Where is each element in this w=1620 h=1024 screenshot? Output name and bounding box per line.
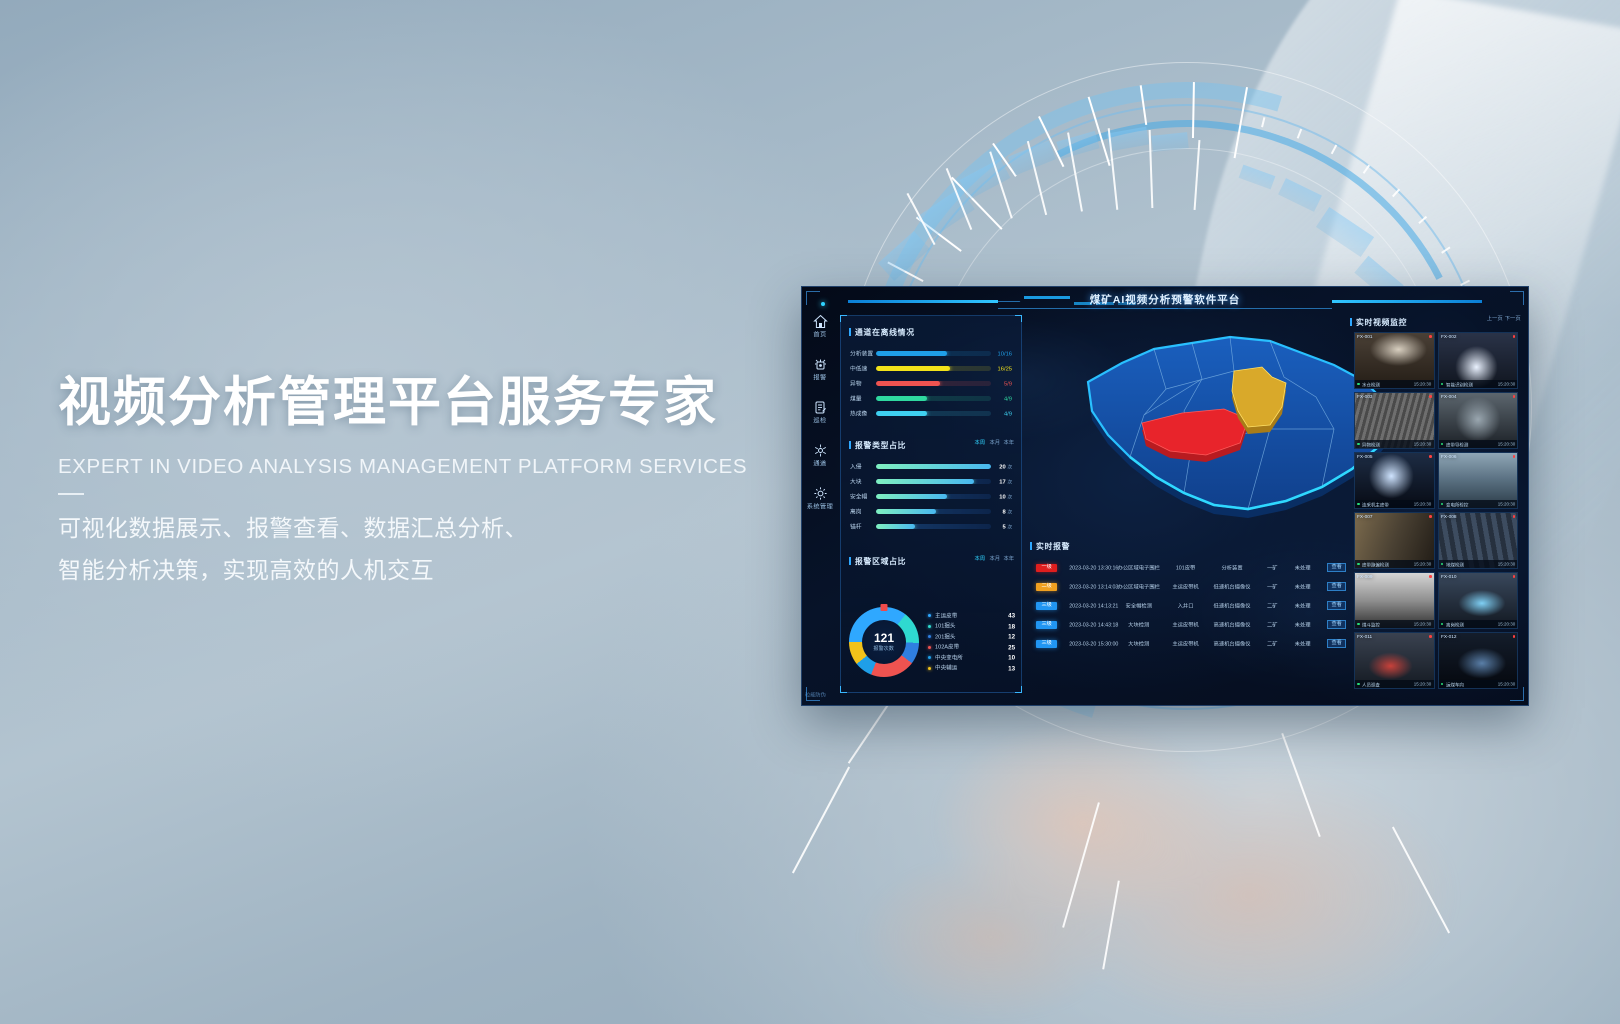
table-row: 二级2023-03-20 13:14:03办公区域电子围栏主运皮带机低速机台摄像… [1030, 577, 1346, 596]
online-status-icon [1441, 443, 1444, 446]
alarm-view-button[interactable]: 查看 [1327, 601, 1346, 610]
sidebar-item-4[interactable]: 通道 [802, 438, 838, 481]
video-caption-bar: 智能识别检测15:20:30 [1439, 380, 1518, 388]
online-status-icon [1441, 383, 1444, 386]
legend-item: 102A皮带25 [928, 642, 1015, 653]
legend-label: 主运皮带 [935, 612, 1037, 620]
channel-progress-track [876, 351, 991, 355]
alarm-type-progress-fill [876, 464, 991, 468]
legend-value: 18 [1008, 623, 1015, 630]
alarm-level-badge: 三级 [1036, 640, 1057, 648]
alarm-type-progress-track [876, 509, 991, 513]
video-cell[interactable]: FX-004皮带导检测15:20:30 [1438, 392, 1519, 449]
online-status-icon [1357, 683, 1360, 686]
alarm-type-value: 5 次 [983, 523, 1012, 530]
alarm-type-progress-track [876, 464, 991, 468]
sidebar-item-label: 报警 [801, 373, 844, 381]
recording-indicator-icon [1429, 575, 1432, 578]
video-cell[interactable]: FX-011人员巡查15:20:30 [1354, 632, 1435, 689]
video-cell[interactable]: FX-009煤斗监控15:20:30 [1354, 572, 1435, 629]
alarm-type-row: 大块17 次 [850, 474, 1012, 489]
alarm-type-progress-fill [876, 524, 915, 528]
alarm-type-tabs[interactable]: 本周本月本年 [976, 441, 1013, 446]
legend-color-dot [928, 625, 931, 628]
video-id-label: FX-007 [1357, 514, 1373, 519]
channel-progress-track [876, 381, 991, 385]
table-row: 三级2023-03-20 15:30:00大块检测主运皮带机高速机台摄像仪二矿未… [1030, 634, 1346, 653]
alarm-type-rows: 入侵20 次大块17 次安全帽10 次离岗8 次锚杆5 次 [850, 459, 1012, 534]
legend-label: 中央变电所 [935, 654, 1037, 662]
legend-color-dot [928, 656, 931, 659]
sidebar-nav: 首页报警巡检通道系统管理 粒能防伪 [802, 309, 838, 705]
realtime-alarm-section: 实时报警 一级2023-03-20 13:30:16办公区域电子围栏101皮带分… [1030, 539, 1346, 691]
video-cell[interactable]: FX-001水仓检测15:20:30 [1354, 332, 1435, 389]
video-cell[interactable]: FX-007皮带跑偏检测15:20:30 [1354, 512, 1435, 569]
legend-item: 主运皮带43 [928, 611, 1015, 622]
gear-icon [813, 486, 828, 501]
alarm-area-panel-title: 报警区域占比 [855, 556, 906, 567]
recording-indicator-icon [1429, 395, 1432, 398]
video-caption-bar: 煤斗监控15:20:30 [1355, 620, 1434, 628]
alarm-type-row: 锚杆5 次 [850, 519, 1012, 534]
panel-corner-br [1015, 686, 1022, 693]
video-timestamp: 15:20:30 [1414, 681, 1431, 686]
channel-progress-track [876, 366, 991, 370]
channel-row: 分析装置10/16 [850, 346, 1012, 361]
legend-label: 101掘头 [935, 622, 1037, 630]
alarm-icon [813, 357, 828, 372]
alarm-type-value: 8 次 [983, 508, 1012, 515]
alarm-type-row: 安全帽10 次 [850, 489, 1012, 504]
legend-item: 101掘头18 [928, 621, 1015, 632]
video-caption-bar: 变电所检控15:20:30 [1439, 500, 1518, 508]
alarm-type-row: 离岗8 次 [850, 504, 1012, 519]
video-caption-bar: 地煤检测15:20:30 [1439, 560, 1518, 568]
alarm-type-progress-track [876, 479, 991, 483]
online-status-icon [1357, 443, 1360, 446]
video-caption-bar: 皮带跑偏检测15:20:30 [1355, 560, 1434, 568]
alarm-status: 未处理 [1283, 620, 1323, 628]
panel-corner-bl [840, 686, 847, 693]
video-grid: FX-001水仓检测15:20:30FX-002智能识别检测15:20:30FX… [1354, 332, 1518, 689]
inspection-icon [813, 400, 828, 415]
table-row: 三级2023-03-20 14:43:18大块检测主运皮带机高速机台摄像仪二矿未… [1030, 615, 1346, 634]
video-caption-bar: 运煤车向15:20:30 [1439, 680, 1518, 688]
alarm-view-button[interactable]: 查看 [1327, 620, 1346, 629]
alarm-view-button[interactable]: 查看 [1327, 639, 1346, 648]
alarm-type-progress-fill [876, 494, 947, 498]
recording-indicator-icon [1513, 635, 1516, 638]
legend-item: 中央辅运13 [928, 663, 1015, 674]
video-id-label: FX-004 [1441, 394, 1457, 399]
sidebar-item-3[interactable]: 巡检 [802, 395, 838, 438]
video-timestamp: 15:20:30 [1414, 441, 1431, 446]
channel-value: 10/16 [983, 350, 1012, 357]
tab-本月[interactable]: 本月 [989, 440, 1000, 447]
video-id-label: FX-008 [1441, 514, 1457, 519]
legend-color-dot [928, 667, 931, 670]
alarm-view-button[interactable]: 查看 [1327, 563, 1346, 572]
alarm-table: 一级2023-03-20 13:30:16办公区域电子围栏101皮带分析装置一矿… [1030, 558, 1346, 653]
channel-value: 16/25 [983, 365, 1012, 372]
sidebar-item-label: 系统管理 [801, 502, 844, 510]
alarm-area-chart-wrap: 121 报警次数 主运皮带43101掘头18201掘头12102A皮带25中央变… [849, 602, 1015, 682]
channel-panel-header: 通道在离线情况 [849, 325, 1013, 339]
table-row: 一级2023-03-20 13:30:16办公区域电子围栏101皮带分析装置一矿… [1030, 558, 1346, 577]
video-id-label: FX-002 [1441, 334, 1457, 339]
video-cell[interactable]: FX-002智能识别检测15:20:30 [1438, 332, 1519, 389]
channel-value: 4/9 [983, 395, 1012, 402]
donut-total-caption: 报警次数 [874, 646, 895, 653]
page-title: 视频分析管理平台服务专家 [58, 372, 818, 435]
video-cell[interactable]: FX-006变电所检控15:20:30 [1438, 452, 1519, 509]
video-caption-bar: 水仓检测15:20:30 [1355, 380, 1434, 388]
legend-value: 10 [1008, 654, 1015, 661]
recording-indicator-icon [1513, 455, 1516, 458]
video-caption-bar: 人员巡查15:20:30 [1355, 680, 1434, 688]
video-timestamp: 15:20:30 [1498, 621, 1515, 626]
hero-description-line-2: 智能分析决策，实现高效的人机交互 [58, 549, 818, 592]
video-timestamp: 15:20:30 [1414, 621, 1431, 626]
legend-label: 201掘头 [935, 633, 1037, 641]
video-cell[interactable]: FX-010离岗检测15:20:30 [1438, 572, 1519, 629]
alarm-status: 未处理 [1283, 582, 1323, 590]
alarm-status: 未处理 [1283, 563, 1323, 571]
recording-indicator-icon [1429, 635, 1432, 638]
video-next-page-button[interactable]: 下一页 [1504, 316, 1520, 323]
panel-corner-tr [1015, 315, 1022, 322]
video-caption-bar: 离岗检测15:20:30 [1439, 620, 1518, 628]
online-status-icon [1357, 383, 1360, 386]
video-timestamp: 15:20:30 [1414, 501, 1431, 506]
home-icon [813, 314, 828, 329]
legend-item: 中央变电所10 [928, 653, 1015, 664]
video-caption-bar: 连采机主皮带15:20:30 [1355, 500, 1434, 508]
sidebar-item-5[interactable]: 系统管理 [802, 481, 838, 524]
channel-progress-fill [876, 396, 927, 400]
online-status-icon [1441, 503, 1444, 506]
alarm-type-panel-header: 报警类型占比 本周本月本年 [849, 438, 1013, 452]
channel-row: 中低速16/25 [850, 361, 1012, 376]
video-timestamp: 15:20:30 [1414, 381, 1431, 386]
recording-indicator-icon [1513, 515, 1516, 518]
alarm-area-donut-chart: 121 报警次数 [849, 607, 919, 677]
online-status-icon [1357, 563, 1360, 566]
legend-value: 43 [1008, 612, 1015, 619]
channel-progress-track [876, 411, 991, 415]
channel-progress-fill [876, 411, 927, 415]
video-cell[interactable]: FX-005连采机主皮带15:20:30 [1354, 452, 1435, 509]
legend-color-dot [928, 614, 931, 617]
table-row: 三级2023-03-20 14:13:21安全帽检测入井口低速机台摄像仪二矿未处… [1030, 596, 1346, 615]
hero-subtitle: EXPERT IN VIDEO ANALYSIS MANAGEMENT PLAT… [58, 455, 818, 479]
alarm-area-panel-header: 报警区域占比 本周本月本年 [849, 554, 1013, 568]
video-id-label: FX-010 [1441, 574, 1457, 579]
channel-value: 5/9 [983, 380, 1012, 387]
alarm-type-progress-fill [876, 479, 974, 483]
channel-progress-fill [876, 366, 950, 370]
online-status-icon [1357, 503, 1360, 506]
recording-indicator-icon [1513, 395, 1516, 398]
video-id-label: FX-012 [1441, 634, 1457, 639]
video-prev-page-button[interactable]: 上一页 [1487, 316, 1503, 323]
screen-corner-tl [806, 291, 820, 305]
alarm-list-title: 实时报警 [1036, 541, 1070, 552]
channel-row: 异物5/9 [850, 376, 1012, 391]
alarm-area-tabs[interactable]: 本周本月本年 [976, 557, 1013, 562]
online-status-icon [1441, 563, 1444, 566]
legend-color-dot [928, 635, 931, 638]
tab-本年[interactable]: 本年 [1004, 440, 1015, 447]
dashboard-title: 煤矿AI视频分析预警软件平台 [802, 292, 1528, 307]
alarm-status: 未处理 [1283, 639, 1323, 647]
channel-progress-fill [876, 351, 947, 355]
video-caption-bar: 异物检测15:20:30 [1355, 440, 1434, 448]
tab-本周[interactable]: 本周 [975, 440, 986, 447]
video-id-label: FX-009 [1357, 574, 1373, 579]
legend-item: 201掘头12 [928, 632, 1015, 643]
recording-indicator-icon [1429, 335, 1432, 338]
video-id-label: FX-003 [1357, 394, 1373, 399]
alarm-status: 未处理 [1283, 601, 1323, 609]
video-monitor-section: 实时视频监控 上一页 下一页 FX-001水仓检测15:20:30FX-002智… [1350, 315, 1520, 693]
video-cell[interactable]: FX-008地煤检测15:20:30 [1438, 512, 1519, 569]
recording-indicator-icon [1429, 455, 1432, 458]
video-cell[interactable]: FX-003异物检测15:20:30 [1354, 392, 1435, 449]
video-timestamp: 15:20:30 [1498, 441, 1515, 446]
video-id-label: FX-001 [1357, 334, 1373, 339]
alarm-type-value: 10 次 [983, 493, 1012, 500]
hero-copy: 视频分析管理平台服务专家 EXPERT IN VIDEO ANALYSIS MA… [58, 372, 818, 592]
channel-progress-track [876, 396, 991, 400]
recording-indicator-icon [1513, 335, 1516, 338]
screen-corner-tr [1510, 291, 1524, 305]
legend-value: 12 [1008, 633, 1015, 640]
channel-progress-fill [876, 381, 940, 385]
video-timestamp: 15:20:30 [1498, 381, 1515, 386]
sidebar-item-2[interactable]: 报警 [802, 352, 838, 395]
sidebar-item-label: 首页 [801, 330, 844, 338]
video-pager[interactable]: 上一页 下一页 [1489, 317, 1518, 322]
video-caption-bar: 皮带导检测15:20:30 [1439, 440, 1518, 448]
video-timestamp: 15:20:30 [1414, 561, 1431, 566]
video-timestamp: 15:20:30 [1498, 501, 1515, 506]
legend-color-dot [928, 646, 931, 649]
alarm-type-row: 入侵20 次 [850, 459, 1012, 474]
screen-corner-bl [806, 687, 820, 701]
donut-marker [881, 604, 888, 611]
channel-panel-title: 通道在离线情况 [855, 327, 915, 338]
legend-label: 中央辅运 [935, 664, 1037, 672]
channel-value: 4/9 [983, 410, 1012, 417]
tab-本年[interactable]: 本年 [1004, 556, 1015, 563]
donut-total-value: 121 [874, 632, 894, 644]
video-timestamp: 15:20:30 [1498, 681, 1515, 686]
divider [58, 493, 84, 495]
alarm-area-legend: 主运皮带43101掘头18201掘头12102A皮带25中央变电所10中央辅运1… [919, 611, 1015, 674]
video-id-label: FX-011 [1357, 634, 1372, 639]
screen-corner-br [1510, 687, 1524, 701]
tab-本周[interactable]: 本周 [975, 556, 986, 563]
left-stats-panel: 通道在离线情况 分析装置10/16中低速16/25异物5/9煤量4/9热成像4/… [840, 315, 1022, 693]
legend-label: 102A皮带 [935, 643, 1037, 651]
sidebar-indicator-dot [821, 302, 825, 306]
alarm-type-value: 20 次 [983, 463, 1012, 470]
sidebar-item-label: 通道 [801, 459, 844, 467]
video-cell[interactable]: FX-012运煤车向15:20:30 [1438, 632, 1519, 689]
panel-corner-tl [840, 315, 847, 322]
recording-indicator-icon [1429, 515, 1432, 518]
alarm-type-value: 17 次 [983, 478, 1012, 485]
tab-本月[interactable]: 本月 [989, 556, 1000, 563]
channel-rows: 分析装置10/16中低速16/25异物5/9煤量4/9热成像4/9 [850, 346, 1012, 421]
alarm-type-progress-fill [876, 509, 936, 513]
alarm-level-badge: 三级 [1036, 602, 1057, 610]
alarm-view-button[interactable]: 查看 [1327, 582, 1346, 591]
video-id-label: FX-005 [1357, 454, 1373, 459]
sidebar-item-1[interactable]: 首页 [802, 309, 838, 352]
channel-icon [813, 443, 828, 458]
alarm-level-badge: 一级 [1036, 564, 1057, 572]
alarm-level-badge: 三级 [1036, 621, 1057, 629]
alarm-type-progress-track [876, 494, 991, 498]
dashboard-header: 煤矿AI视频分析预警软件平台 [802, 287, 1528, 315]
video-panel-title: 实时视频监控 [1356, 317, 1407, 328]
video-timestamp: 15:20:30 [1498, 561, 1515, 566]
legend-value: 25 [1008, 644, 1015, 651]
sidebar-item-label: 巡检 [801, 416, 844, 424]
alarm-list-header: 实时报警 [1030, 539, 1346, 553]
dashboard-monitor: 煤矿AI视频分析预警软件平台 首页报警巡检通道系统管理 粒能防伪 通道在离线情况… [801, 286, 1529, 706]
alarm-type-progress-track [876, 524, 991, 528]
online-status-icon [1357, 623, 1360, 626]
alarm-level-badge: 二级 [1036, 583, 1057, 591]
alarm-type-panel-title: 报警类型占比 [855, 440, 906, 451]
online-status-icon [1441, 683, 1444, 686]
online-status-icon [1441, 623, 1444, 626]
hero-description-line-1: 可视化数据展示、报警查看、数据汇总分析、 [58, 507, 818, 550]
channel-row: 煤量4/9 [850, 391, 1012, 406]
donut-center: 121 报警次数 [862, 620, 906, 664]
legend-value: 13 [1008, 665, 1015, 672]
channel-row: 热成像4/9 [850, 406, 1012, 421]
video-id-label: FX-006 [1441, 454, 1457, 459]
recording-indicator-icon [1513, 575, 1516, 578]
